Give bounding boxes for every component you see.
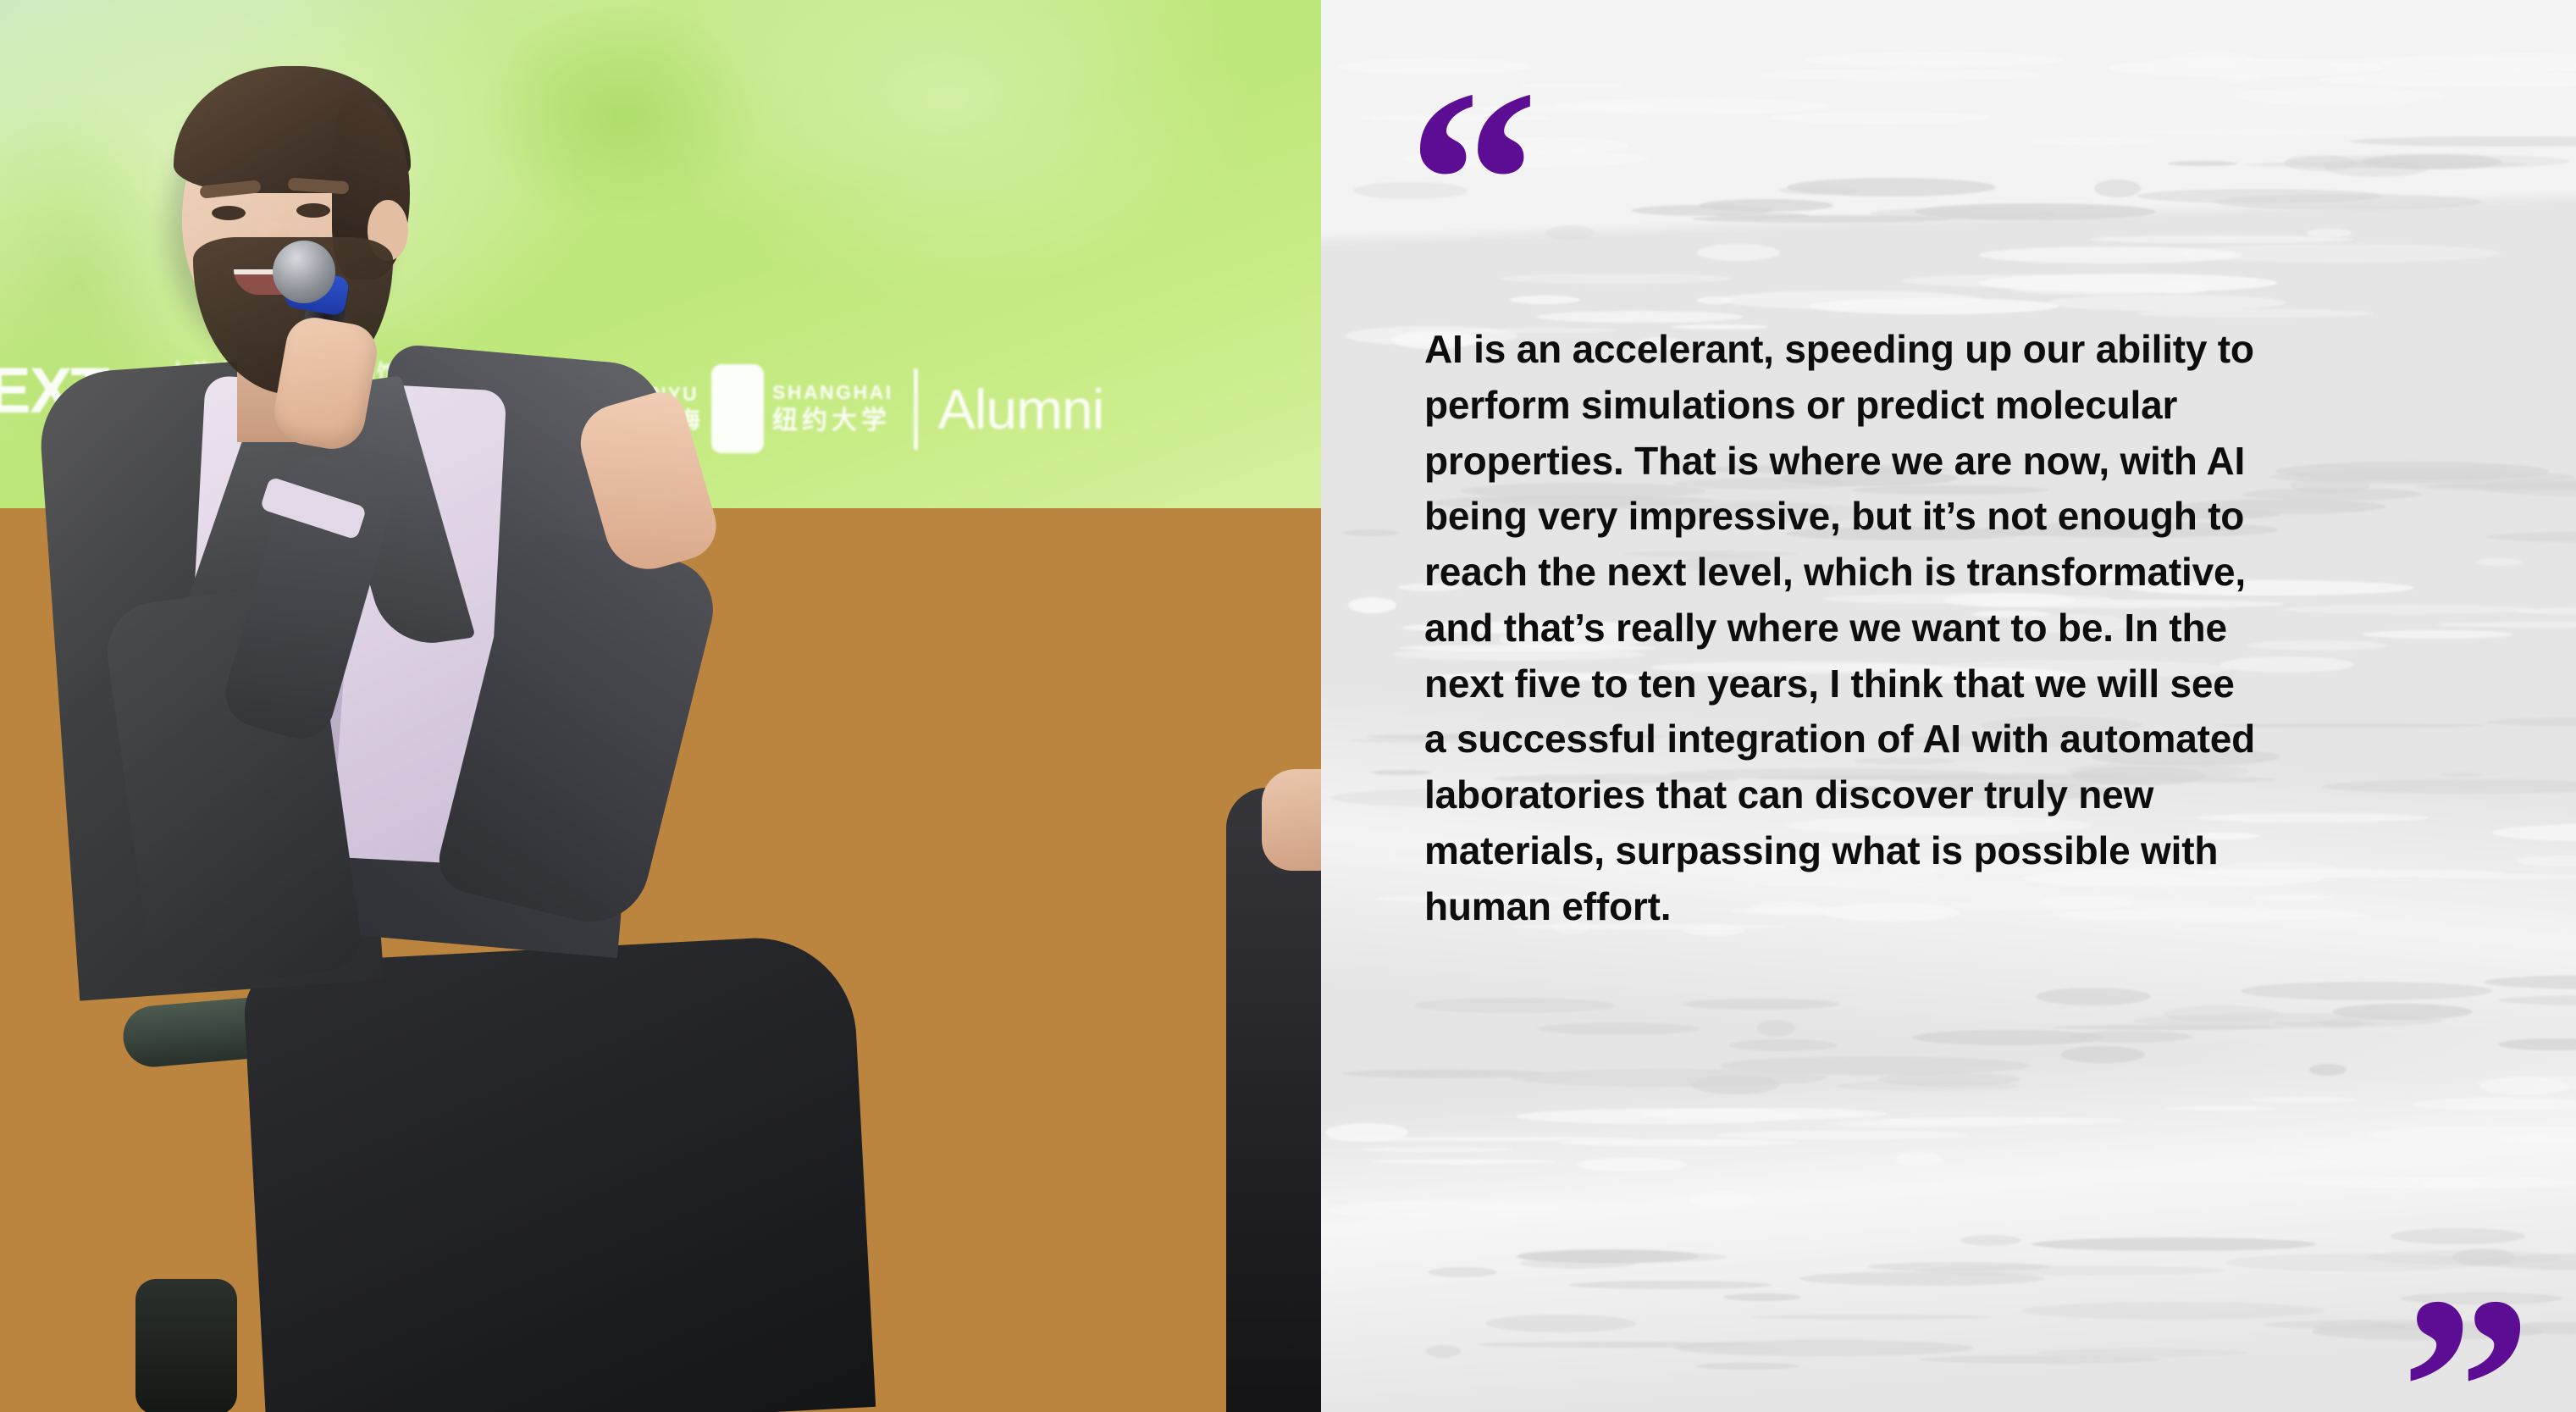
quote-card: EXT 上海纽约大学图书馆 NYU Shanghai Library NYU 上…: [0, 0, 2576, 1412]
second-panelist: [1226, 788, 1321, 1412]
speaker-eye-right: [296, 203, 330, 218]
quote-panel: “ AI is an accelerant, speeding up our a…: [1321, 0, 2576, 1412]
opening-quote-mark: “: [1407, 51, 1539, 313]
chair-base: [135, 1279, 237, 1412]
speaker-trousers: [242, 933, 876, 1412]
second-panelist-hand: [1262, 769, 1321, 871]
speaker-eye-left: [212, 206, 246, 220]
quote-text: AI is an accelerant, speeding up our abi…: [1424, 322, 2466, 934]
speaker-photo: EXT 上海纽约大学图书馆 NYU Shanghai Library NYU 上…: [0, 0, 1321, 1412]
speaker-figure: [0, 0, 1321, 1412]
closing-quote-mark: ”: [2401, 1258, 2532, 1412]
